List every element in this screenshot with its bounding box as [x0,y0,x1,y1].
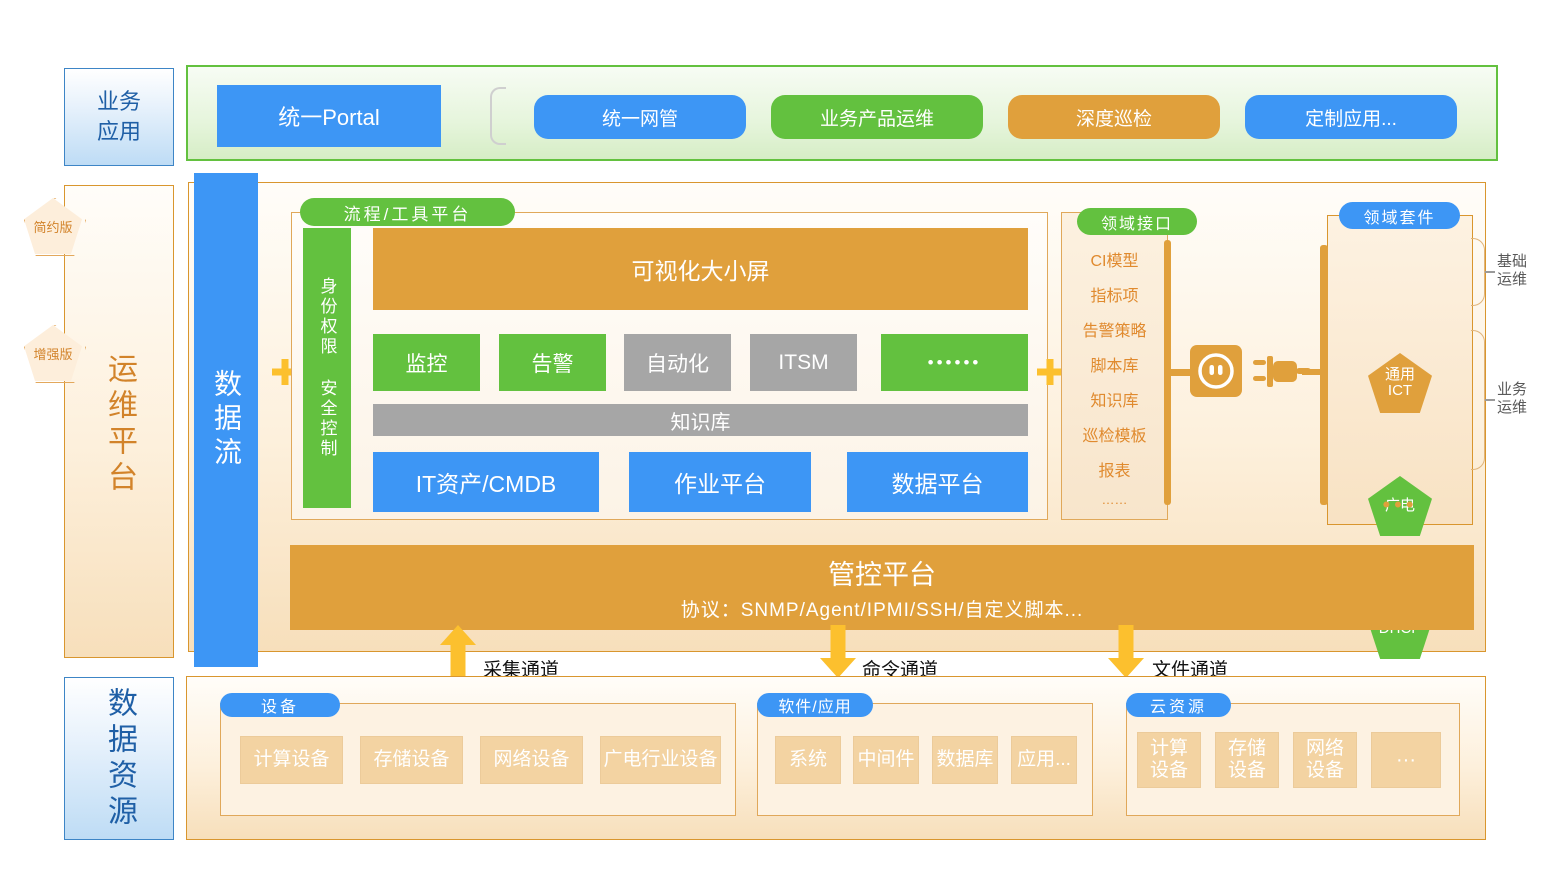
portal-bracket [490,87,506,145]
tool-platform-title: 流程/工具平台 [300,198,515,226]
data-resource-group-0-item-3[interactable]: 广电行业设备 [600,736,721,784]
data-resource-group-0-title: 设备 [220,693,340,717]
data-resource-group-1-item-2[interactable]: 数据库 [932,736,998,784]
tool-tile-3[interactable]: ITSM [750,334,857,391]
command-channel-arrow [820,625,856,678]
data-resource-group-0-item-3-label: 广电行业设备 [603,749,717,771]
data-resource-group-0-item-2[interactable]: 网络设备 [480,736,583,784]
domain-interface-item-2[interactable]: 告警策略 [1061,317,1168,341]
data-resource-group-1-title: 软件/应用 [757,693,873,717]
domain-interface-item-3[interactable]: 脚本库 [1061,352,1168,376]
domain-interface-item-6[interactable]: 报表 [1061,457,1168,481]
domain-interface-title: 领域接口 [1077,208,1197,235]
domain-interface-item-7: …… [1061,492,1168,507]
data-resource-group-2-item-2[interactable]: 网络 设备 [1293,732,1357,788]
data-resource-group-2-item-1-label: 存储 设备 [1228,738,1266,782]
data-resource-group-2-item-2-label: 网络 设备 [1306,738,1344,782]
data-resource-group-1-title-text: 软件/应用 [778,693,851,717]
file-channel-arrow [1108,625,1144,678]
data-resource-group-2-item-3-label: ··· [1396,749,1416,772]
data-resource-group-0-item-2-label: 网络设备 [493,749,569,771]
plug-to-suite-line [1302,369,1324,375]
platform-tile-0[interactable]: IT资产/CMDB [373,452,599,512]
platform-tile-2-label: 数据平台 [892,465,984,499]
domain-suite-title: 领域套件 [1339,202,1460,229]
suite-item-0-shape: 通用 ICT [1368,353,1432,413]
data-resource-group-1-item-3[interactable]: 应用... [1011,736,1077,784]
edition-enhanced-label: 增强版 [33,344,72,363]
layer-label-data-resource-text: 数据资源 [97,687,141,831]
tool-tile-3-label: ITSM [778,351,828,375]
suite-group-bracket-business [1471,330,1485,470]
control-platform-block[interactable]: 管控平台 协议：SNMP/Agent/IPMI/SSH/自定义脚本... [290,545,1474,630]
visualization-screen-label: 可视化大小屏 [632,252,770,286]
edition-simple-shape: 简约版 [24,198,82,254]
suite-item-0[interactable]: 通用 ICT [1368,353,1432,413]
suite-group-bracket-basic [1471,238,1485,306]
domain-interface-item-4[interactable]: 知识库 [1061,387,1168,411]
tool-tile-2-label: 自动化 [646,348,709,378]
knowledge-base-label: 知识库 [671,406,731,435]
suite-more-dots: ••• [1368,495,1432,515]
tool-tile-1[interactable]: 告警 [499,334,606,391]
data-resource-group-2-item-3[interactable]: ··· [1371,732,1441,788]
suite-group-label-basic: 基础 运维 [1497,253,1543,289]
data-flow-label: 数据流 [206,369,246,471]
suite-group-label-business: 业务 运维 [1497,381,1543,417]
data-flow-bar: 数据流 [194,173,258,667]
domain-interface-item-0[interactable]: CI模型 [1061,247,1168,271]
knowledge-base-bar[interactable]: 知识库 [373,404,1028,436]
domain-interface-item-1[interactable]: 指标项 [1061,282,1168,306]
data-resource-group-1-item-1-label: 中间件 [857,749,914,771]
suite-group-tick-business [1485,399,1495,401]
domain-interface-list: CI模型 指标项 告警策略 脚本库 知识库 巡检模板 报表 …… [1061,243,1168,513]
data-resource-group-2-item-0-label: 计算 设备 [1150,738,1188,782]
control-platform-title: 管控平台 [828,553,936,592]
control-platform-subtitle: 协议：SNMP/Agent/IPMI/SSH/自定义脚本... [681,595,1084,622]
app-button-2[interactable]: 深度巡检 [1008,95,1220,139]
tool-tile-4[interactable]: •••••• [881,334,1028,391]
tool-tile-4-label: •••••• [928,353,982,373]
data-resource-group-1-item-2-label: 数据库 [936,749,993,771]
data-resource-group-0-item-0[interactable]: 计算设备 [240,736,343,784]
suite-more-label: ••• [1382,492,1417,518]
platform-tile-2[interactable]: 数据平台 [847,452,1028,512]
data-resource-group-1-item-1[interactable]: 中间件 [853,736,919,784]
data-resource-group-2-title-text: 云资源 [1150,693,1207,717]
data-resource-group-1-item-0[interactable]: 系统 [775,736,841,784]
power-socket-icon [1190,345,1242,397]
data-resource-group-0-item-0-label: 计算设备 [253,749,329,771]
app-button-1-label: 业务产品运维 [820,104,934,131]
suite-group-tick-basic [1485,271,1495,273]
edition-enhanced-shape: 增强版 [24,325,82,381]
tool-tile-2[interactable]: 自动化 [624,334,731,391]
unified-portal-label: 统一Portal [278,100,379,132]
unified-portal-button[interactable]: 统一Portal [217,85,441,147]
app-button-0-label: 统一网管 [602,104,678,131]
tool-tile-0[interactable]: 监控 [373,334,480,391]
tool-platform-title-text: 流程/工具平台 [344,200,472,225]
domain-interface-item-5[interactable]: 巡检模板 [1061,422,1168,446]
data-resource-group-1-item-3-label: 应用... [1017,749,1071,771]
layer-label-data-resource: 数据资源 [64,677,174,840]
layer-label-business-app-text: 业务 应用 [97,87,141,146]
domain-interface-title-text: 领域接口 [1101,210,1173,234]
tool-tile-0-label: 监控 [406,348,448,378]
tool-tile-1-label: 告警 [532,348,574,378]
identity-security-label: 身份权限 安全控制 [315,277,340,459]
data-resource-group-0-item-1[interactable]: 存储设备 [360,736,463,784]
data-resource-group-1-item-0-label: 系统 [789,749,827,771]
layer-label-business-app: 业务 应用 [64,68,174,166]
suite-item-0-label: 通用 ICT [1385,367,1415,399]
edition-enhanced[interactable]: 增强版 [24,325,86,383]
edition-simple[interactable]: 简约版 [24,198,86,256]
visualization-screen-block[interactable]: 可视化大小屏 [373,228,1028,310]
data-resource-group-2-item-1[interactable]: 存储 设备 [1215,732,1279,788]
platform-tile-1[interactable]: 作业平台 [629,452,811,512]
data-resource-group-0-title-text: 设备 [261,693,299,717]
platform-tile-0-label: IT资产/CMDB [416,465,557,499]
data-resource-group-2-item-0[interactable]: 计算 设备 [1137,732,1201,788]
app-button-3[interactable]: 定制应用... [1245,95,1457,139]
app-button-1[interactable]: 业务产品运维 [771,95,983,139]
collect-channel-arrow [440,625,476,678]
app-button-0[interactable]: 统一网管 [534,95,746,139]
domain-suite-title-text: 领域套件 [1363,204,1435,228]
data-resource-group-2-title: 云资源 [1126,693,1231,717]
platform-tile-1-label: 作业平台 [674,465,766,499]
app-button-3-label: 定制应用... [1305,104,1397,131]
edition-simple-label: 简约版 [33,217,72,236]
identity-security-column: 身份权限 安全控制 [303,228,351,508]
data-resource-group-0-item-1-label: 存储设备 [373,749,449,771]
domain-suite-left-bar [1320,245,1328,505]
app-button-2-label: 深度巡检 [1076,104,1152,131]
